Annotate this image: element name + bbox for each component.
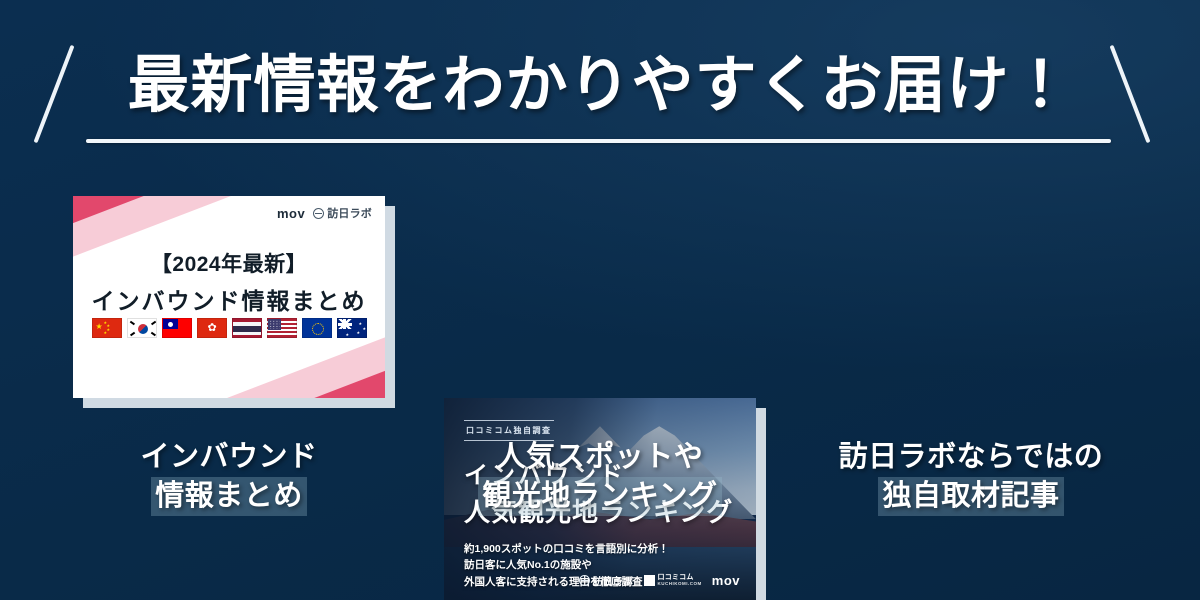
headline-section: 最新情報をわかりやすくお届け！ [0, 34, 1200, 144]
page-title: 最新情報をわかりやすくお届け！ [0, 34, 1200, 138]
card-inbound-matome[interactable]: mov 訪日ラボ 【2024年最新】 インバウンド情報まとめ ★ ★ ★ ★ ★ [73, 196, 385, 398]
usa-flag [267, 318, 297, 338]
card2-logo-row: 訪日ラボ 口コミコム KUCHIKOMI.COM mov [579, 573, 740, 588]
houbi-lab-label: 訪日ラボ [593, 573, 634, 588]
card-row: mov 訪日ラボ 【2024年最新】 インバウンド情報まとめ ★ ★ ★ ★ ★ [0, 190, 1200, 410]
page-background: 最新情報をわかりやすくお届け！ mov 訪日ラボ 【2024年最新】 インバウン… [0, 0, 1200, 600]
card1-title-line1: 【2024年最新】 [73, 248, 385, 278]
eu-flag [302, 318, 332, 338]
flag-list: ★ ★ ★ ★ ★ ✿ [73, 318, 385, 338]
kuchikomi-logo: 口コミコム KUCHIKOMI.COM [644, 574, 702, 586]
caption-ranking: 人気スポットや 観光地ランキング [435, 438, 765, 516]
south-korea-flag [127, 318, 157, 338]
card2-desc-line1: 約1,900スポットの口コミを言語別に分析！ [464, 541, 756, 557]
card1-title: 【2024年最新】 インバウンド情報まとめ [73, 248, 385, 316]
kuchikomi-subname: KUCHIKOMI.COM [658, 582, 702, 587]
houbi-lab-label: 訪日ラボ [327, 205, 372, 221]
thailand-flag [232, 318, 262, 338]
houbi-lab-mark-icon [579, 575, 590, 586]
kuchikomi-label: 口コミコム KUCHIKOMI.COM [658, 574, 702, 586]
caption-line1: 人気スポットや [435, 438, 765, 477]
china-flag: ★ ★ ★ ★ ★ [92, 318, 122, 338]
hong-kong-flag: ✿ [197, 318, 227, 338]
houbi-lab-logo: 訪日ラボ [313, 205, 372, 221]
caption-line1: インバウンド [64, 438, 394, 477]
card1-title-line2: インバウンド情報まとめ [73, 282, 385, 316]
mov-logo: mov [712, 573, 740, 588]
australia-flag: ★ ★ ★ ★ [337, 318, 367, 338]
headline-underline [86, 139, 1111, 143]
caption-line1: 訪日ラボならではの [806, 438, 1136, 477]
kuchikomi-mark-icon [644, 575, 655, 586]
caption-inbound-matome: インバウンド 情報まとめ [64, 438, 394, 516]
taiwan-flag [162, 318, 192, 338]
mov-logo: mov [277, 206, 305, 221]
caption-original-article: 訪日ラボならではの 独自取材記事 [806, 438, 1136, 516]
card1-logo-row: mov 訪日ラボ [277, 205, 372, 221]
card2-desc-line2: 訪日客に人気No.1の施設や [464, 557, 756, 573]
caption-line2: 観光地ランキング [478, 477, 721, 516]
caption-row: インバウンド 情報まとめ 人気スポットや 観光地ランキング 訪日ラボならではの … [0, 438, 1200, 538]
caption-line2: 独自取材記事 [878, 477, 1063, 516]
houbi-lab-mark-icon [313, 208, 324, 219]
caption-line2: 情報まとめ [151, 477, 307, 516]
houbi-lab-logo: 訪日ラボ [579, 573, 634, 588]
